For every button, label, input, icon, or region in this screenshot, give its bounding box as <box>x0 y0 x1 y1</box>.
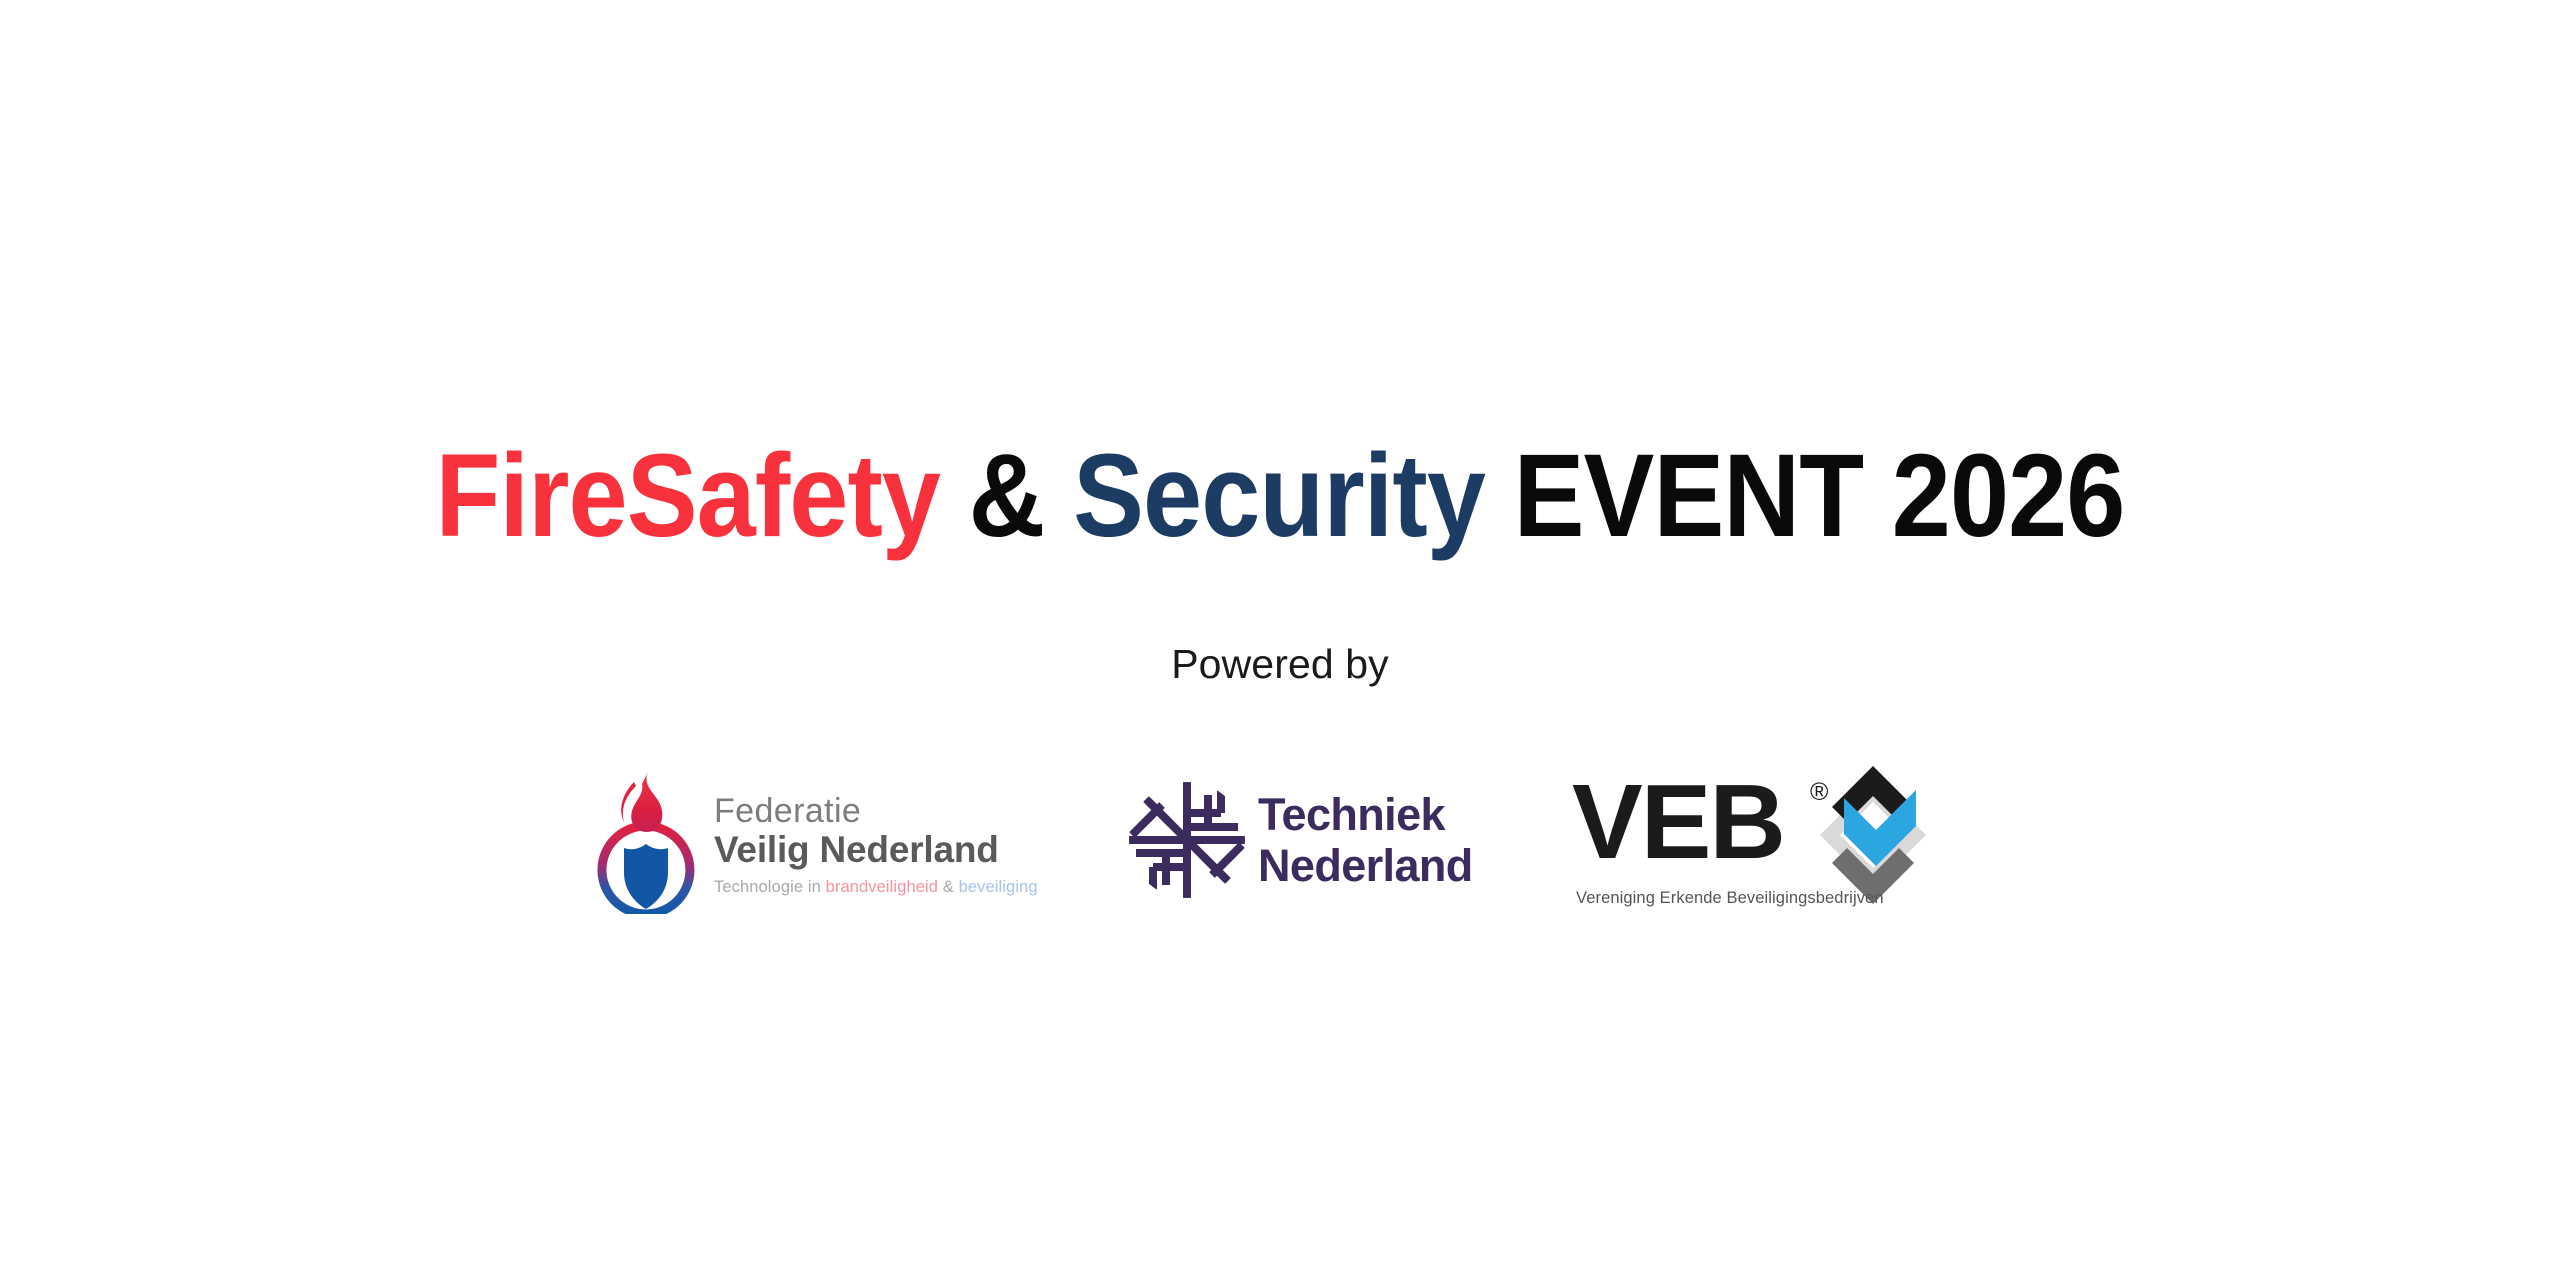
techniek-wordmark: Techniek Nederland <box>1258 789 1473 891</box>
federatie-flame-shield-icon <box>590 766 702 914</box>
veb-wordmark: VEB <box>1572 766 1784 878</box>
tagline-part-beveiliging: beveiliging <box>959 878 1038 896</box>
promo-banner: FireSafety & Security EVENT 2026 Powered… <box>0 0 2560 1280</box>
federatie-wordmark: Federatie Veilig Nederland Technologie i… <box>714 784 1038 897</box>
techniek-circuit-icon <box>1126 779 1248 901</box>
partner-logo-row: Federatie Veilig Nederland Technologie i… <box>0 760 2560 940</box>
tagline-part-brandveiligheid: brandveiligheid <box>826 878 939 896</box>
logo-veb[interactable]: VEB ® Vereniging Erkende Beveiligingsbed <box>1570 760 1970 920</box>
techniek-line-1: Techniek <box>1258 789 1473 840</box>
veb-subtitle: Vereniging Erkende Beveiligingsbedrijven <box>1576 888 1884 908</box>
page-title: FireSafety & Security EVENT 2026 <box>128 431 2432 561</box>
powered-by-label: Powered by <box>0 638 2560 690</box>
logo-techniek-nederland[interactable]: Techniek Nederland <box>1126 760 1526 920</box>
tagline-part-technologie: Technologie in <box>714 878 826 896</box>
logo-federatie-veilig-nederland[interactable]: Federatie Veilig Nederland Technologie i… <box>590 760 1090 920</box>
federatie-tagline: Technologie in brandveiligheid & beveili… <box>714 877 1038 897</box>
tagline-part-amp: & <box>938 878 958 896</box>
title-segment-ampersand: & <box>940 430 1073 562</box>
federatie-line-2: Veilig Nederland <box>714 829 1038 871</box>
title-segment-security: Security <box>1073 430 1485 562</box>
techniek-line-2: Nederland <box>1258 840 1473 891</box>
federatie-line-1: Federatie <box>714 792 1038 830</box>
title-segment-firesafety: FireSafety <box>436 430 941 562</box>
title-segment-event-year: EVENT 2026 <box>1485 430 2124 562</box>
